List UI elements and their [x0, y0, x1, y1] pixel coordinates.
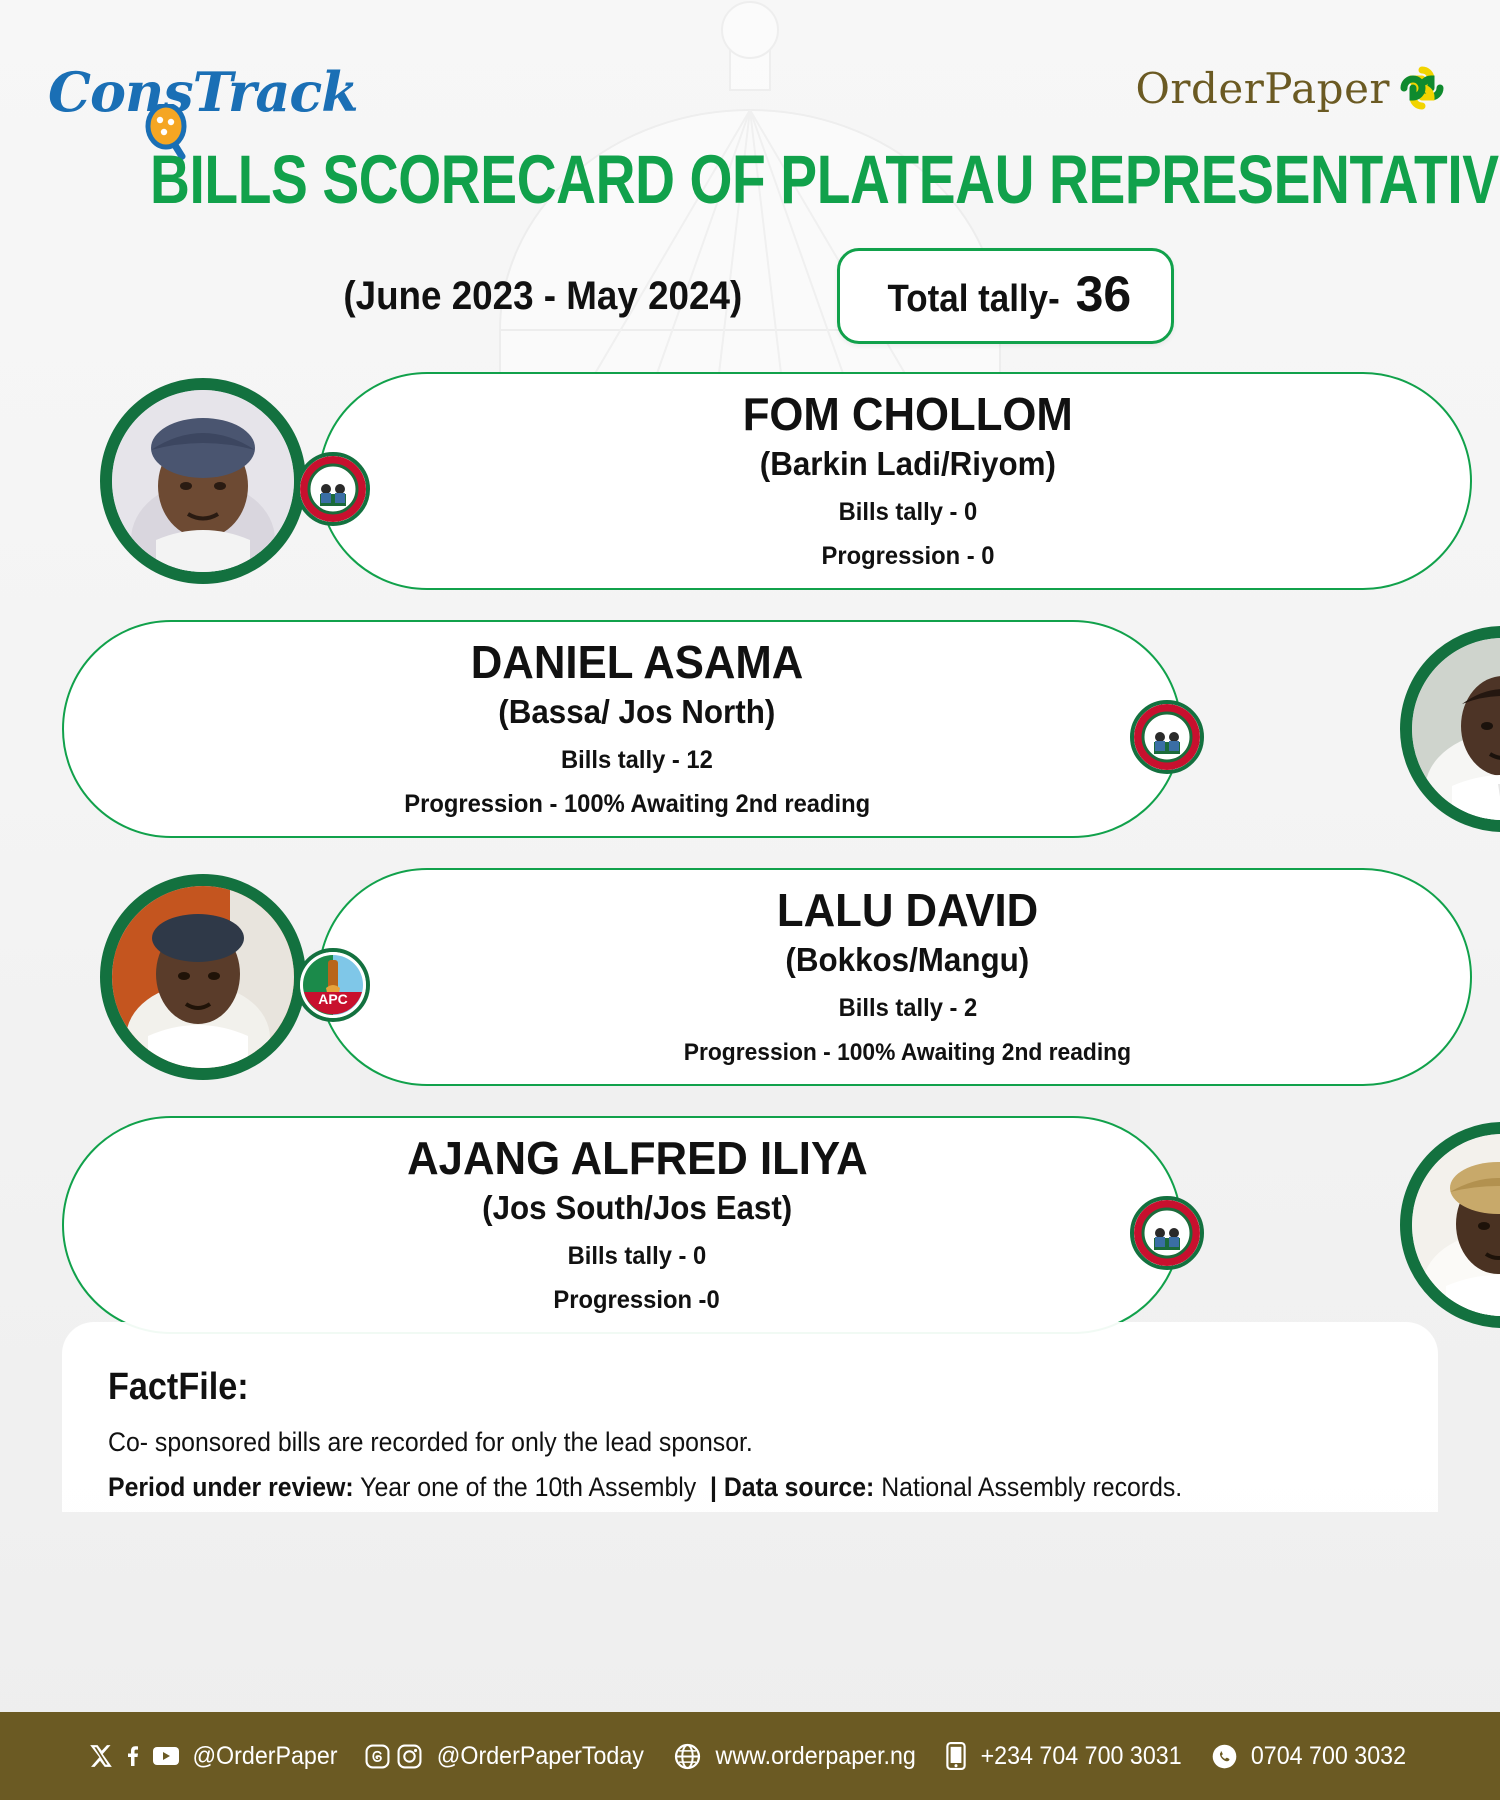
- total-tally-badge: Total tally- 36: [837, 248, 1174, 344]
- representative-name: AJANG ALFRED ILIYA: [407, 1135, 868, 1181]
- footer-bar: @OrderPaper @OrderPaperToday www.orderpa…: [0, 1712, 1500, 1800]
- portrait-image: [112, 390, 294, 572]
- header-subrow: (June 2023 - May 2024) Total tally- 36: [0, 248, 1500, 344]
- x-twitter-icon[interactable]: [88, 1743, 114, 1769]
- avatar: [100, 378, 306, 584]
- website-group[interactable]: www.orderpaper.ng: [674, 1742, 923, 1771]
- threads-icon[interactable]: [365, 1744, 390, 1769]
- social-handles-secondary[interactable]: @OrderPaperToday: [365, 1742, 652, 1771]
- brand-bar: ConsTrack OrderPaper: [0, 28, 1500, 118]
- representative-name: LALU DAVID: [777, 887, 1038, 933]
- mobile-phone-icon: [946, 1742, 966, 1770]
- representative-name: FOM CHOLLOM: [742, 391, 1072, 437]
- factfile-panel: FactFile: Co- sponsored bills are record…: [62, 1322, 1438, 1512]
- apc-logo-icon: APC: [296, 948, 370, 1022]
- infographic-poster: ConsTrack OrderPaper BILL: [0, 0, 1500, 1800]
- facebook-icon[interactable]: [121, 1744, 145, 1768]
- labour-party-logo-icon: [1130, 1196, 1204, 1270]
- factfile-note: Co- sponsored bills are recorded for onl…: [108, 1427, 1289, 1458]
- period-under-review-value: Year one of the 10th Assembly: [354, 1472, 696, 1502]
- representative-card[interactable]: DANIEL ASAMA (Bassa/ Jos North) Bills ta…: [0, 620, 1500, 838]
- period-under-review-label: Period under review:: [108, 1472, 354, 1502]
- constrack-logo-text: ConsTrack: [48, 60, 358, 124]
- progression: Progression - 100% Awaiting 2nd reading: [684, 1038, 1131, 1067]
- portrait-image: [1412, 638, 1500, 820]
- youtube-icon[interactable]: [152, 1745, 180, 1767]
- globe-icon: [674, 1743, 701, 1770]
- orderpaper-pinwheel-icon: [1396, 62, 1448, 114]
- phone-primary-group[interactable]: +234 704 700 3031: [946, 1742, 1189, 1771]
- handle-secondary[interactable]: @OrderPaperToday: [437, 1742, 644, 1771]
- card-text: DANIEL ASAMA (Bassa/ Jos North) Bills ta…: [74, 620, 1200, 838]
- avatar: [1400, 626, 1500, 832]
- instagram-icon[interactable]: [397, 1744, 422, 1769]
- progression: Progression -0: [554, 1285, 720, 1316]
- representatives-list: FOM CHOLLOM (Barkin Ladi/Riyom) Bills ta…: [0, 372, 1500, 1364]
- representative-name: DANIEL ASAMA: [471, 639, 804, 685]
- representative-card[interactable]: LALU DAVID (Bokkos/Mangu) Bills tally - …: [0, 868, 1500, 1086]
- representative-card[interactable]: FOM CHOLLOM (Barkin Ladi/Riyom) Bills ta…: [0, 372, 1500, 590]
- factfile-meta: Period under review: Year one of the 10t…: [108, 1472, 1289, 1503]
- data-source-label: | Data source:: [710, 1472, 874, 1502]
- total-tally-label: Total tally-: [888, 278, 1060, 321]
- whatsapp-icon: [1211, 1743, 1238, 1770]
- portrait-image: [1412, 1134, 1500, 1316]
- representative-constituency: (Bassa/ Jos North): [498, 693, 775, 731]
- phone-secondary[interactable]: 0704 700 3032: [1251, 1742, 1406, 1771]
- orderpaper-logo-text: OrderPaper: [1135, 64, 1390, 113]
- phone-secondary-group[interactable]: 0704 700 3032: [1211, 1742, 1412, 1771]
- data-source-value: National Assembly records.: [874, 1472, 1182, 1502]
- representative-card[interactable]: AJANG ALFRED ILIYA (Jos South/Jos East) …: [0, 1116, 1500, 1334]
- card-text: FOM CHOLLOM (Barkin Ladi/Riyom) Bills ta…: [355, 372, 1460, 590]
- period-label: (June 2023 - May 2024): [343, 274, 742, 319]
- labour-party-logo-icon: [1130, 700, 1204, 774]
- total-tally-value: 36: [1076, 265, 1132, 323]
- svg-text:APC: APC: [318, 991, 348, 1007]
- constrack-logo[interactable]: ConsTrack: [48, 60, 358, 124]
- handle-primary[interactable]: @OrderPaper: [193, 1742, 338, 1771]
- representative-constituency: (Bokkos/Mangu): [786, 941, 1030, 979]
- orderpaper-logo[interactable]: OrderPaper: [1135, 62, 1448, 114]
- bills-tally: Bills tally - 0: [838, 497, 977, 528]
- bills-tally: Bills tally - 0: [568, 1241, 707, 1272]
- card-text: LALU DAVID (Bokkos/Mangu) Bills tally - …: [355, 868, 1460, 1086]
- website-url[interactable]: www.orderpaper.ng: [716, 1742, 916, 1771]
- card-text: AJANG ALFRED ILIYA (Jos South/Jos East) …: [74, 1116, 1200, 1334]
- factfile-title: FactFile:: [108, 1366, 1264, 1409]
- progression: Progression - 0: [821, 541, 994, 572]
- avatar: [1400, 1122, 1500, 1328]
- portrait-image: [112, 886, 294, 1068]
- representative-constituency: (Jos South/Jos East): [482, 1189, 792, 1227]
- avatar: [100, 874, 306, 1080]
- social-handles-primary[interactable]: @OrderPaper: [88, 1742, 343, 1771]
- progression: Progression - 100% Awaiting 2nd reading: [404, 789, 870, 820]
- bills-tally: Bills tally - 2: [838, 993, 977, 1024]
- representative-constituency: (Barkin Ladi/Riyom): [759, 445, 1055, 483]
- bills-tally: Bills tally - 12: [561, 745, 713, 776]
- page-title: BILLS SCORECARD OF PLATEAU REPRESENTATIV…: [150, 140, 1350, 219]
- labour-party-logo-icon: [296, 452, 370, 526]
- phone-primary[interactable]: +234 704 700 3031: [980, 1742, 1181, 1771]
